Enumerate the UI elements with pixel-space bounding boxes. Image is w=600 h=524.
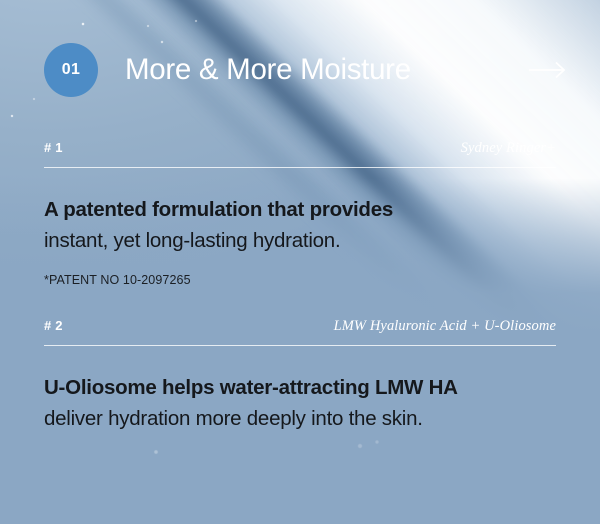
section-1-heading: A patented formulation that provides (44, 194, 556, 225)
arrow-right-icon[interactable] (528, 58, 570, 82)
product-feature-slide: 01 More & More Moisture # 1 Sydney Ringe… (0, 0, 600, 524)
section-2-tag: LMW Hyaluronic Acid + U-Oliosome (334, 318, 556, 335)
section-2-body: U-Oliosome helps water-attracting LMW HA… (44, 372, 556, 434)
feature-section-2: # 2 LMW Hyaluronic Acid + U-Oliosome U-O… (44, 318, 556, 434)
section-1-note: *PATENT NO 10-2097265 (44, 273, 556, 287)
section-2-header: # 2 LMW Hyaluronic Acid + U-Oliosome (44, 318, 556, 345)
page-title: More & More Moisture (125, 53, 411, 87)
section-1-subheading: instant, yet long-lasting hydration. (44, 225, 556, 256)
section-2-divider (44, 345, 556, 346)
section-1-tag: Sydney Ringer+ (461, 140, 556, 157)
section-1-body: A patented formulation that provides ins… (44, 194, 556, 287)
slide-header: 01 More & More Moisture (44, 42, 570, 98)
section-1-header: # 1 Sydney Ringer+ (44, 140, 556, 167)
section-1-divider (44, 167, 556, 168)
feature-section-1: # 1 Sydney Ringer+ A patented formulatio… (44, 140, 556, 287)
step-badge-number: 01 (62, 61, 80, 79)
step-badge: 01 (44, 43, 98, 97)
section-1-number: # 1 (44, 140, 63, 155)
section-2-subheading: deliver hydration more deeply into the s… (44, 403, 556, 434)
section-2-number: # 2 (44, 318, 63, 333)
slide-content: 01 More & More Moisture # 1 Sydney Ringe… (0, 0, 600, 524)
section-2-heading: U-Oliosome helps water-attracting LMW HA (44, 372, 556, 403)
